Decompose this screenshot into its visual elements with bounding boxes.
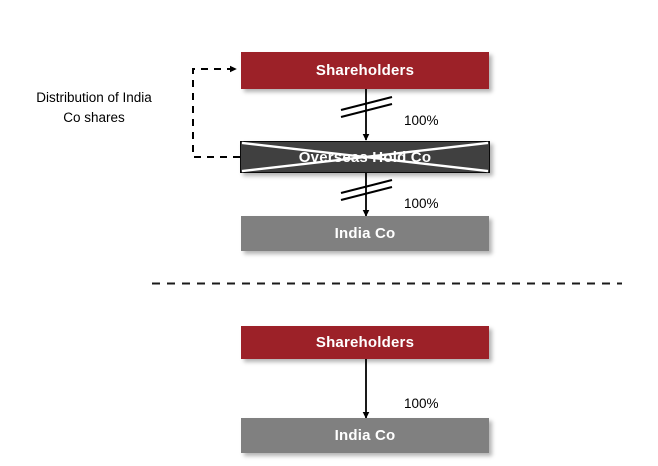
node-label: India Co <box>335 225 396 242</box>
edge-overseas-to-indiaco <box>341 173 392 216</box>
pct-text: 100% <box>404 196 439 211</box>
pct-text: 100% <box>404 113 439 128</box>
pct-text: 100% <box>404 396 439 411</box>
edge-shareholders-to-overseas <box>341 89 392 140</box>
pct-label-shareholders-overseas: 100% <box>404 113 439 128</box>
node-overseas-hold-co[interactable]: Overseas Hold Co <box>240 141 490 173</box>
edge-distribution-dashed <box>193 69 240 157</box>
node-label: Shareholders <box>316 334 414 351</box>
node-india-co-bottom[interactable]: India Co <box>241 418 489 453</box>
diagram-canvas: Distribution of India Co shares <box>0 0 658 466</box>
node-india-co-top[interactable]: India Co <box>241 216 489 251</box>
pct-label-shareholders-indiaco-after: 100% <box>404 396 439 411</box>
pct-label-overseas-indiaco: 100% <box>404 196 439 211</box>
node-shareholders-top[interactable]: Shareholders <box>241 52 489 89</box>
node-label: Overseas Hold Co <box>299 149 431 166</box>
node-label: India Co <box>335 427 396 444</box>
node-shareholders-bottom[interactable]: Shareholders <box>241 326 489 359</box>
node-label: Shareholders <box>316 62 414 79</box>
